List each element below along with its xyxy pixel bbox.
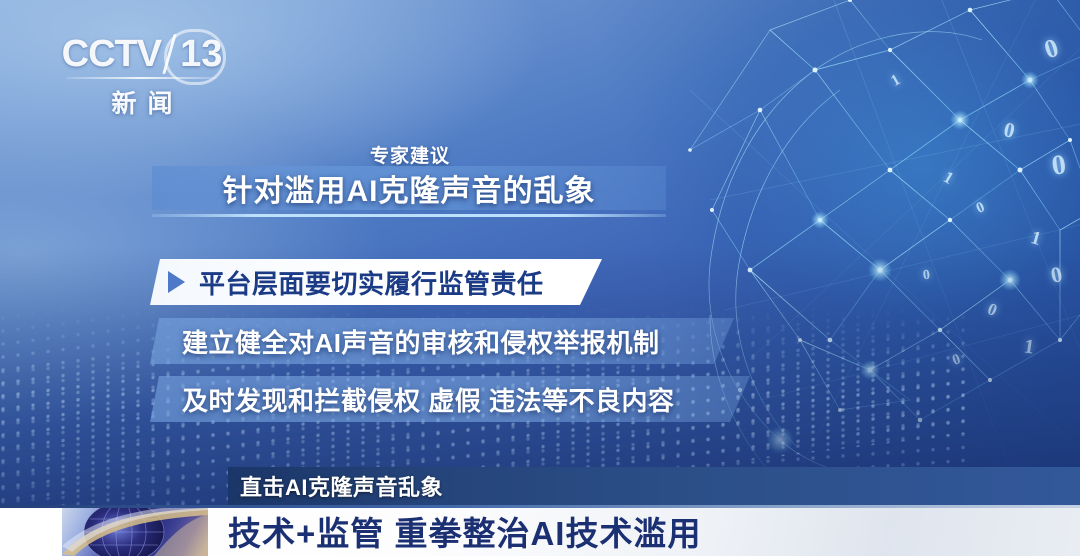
recommendation-text: 建立健全对AI声音的审核和侵权举报机制: [182, 323, 660, 360]
title-underline: [152, 214, 666, 217]
recommendation-item-2: 建立健全对AI声音的审核和侵权举报机制: [150, 318, 734, 364]
logo-ring-icon: [164, 29, 226, 85]
logo-chinese-label: 新闻: [56, 84, 228, 120]
logo-cctv-text: CCTV: [62, 35, 161, 73]
cctv13-logo: CCTV 13 新闻: [56, 34, 228, 120]
broadcast-frame: 0 0 0 1 0 1 1 0 0 0 1 0: [0, 0, 1080, 556]
topic-tag-bar: 直击AI克隆声音乱象: [228, 467, 1080, 505]
topic-tag-text: 直击AI克隆声音乱象: [240, 470, 443, 502]
kicker-label: 专家建议: [0, 141, 820, 168]
logo-row: CCTV 13: [56, 34, 228, 74]
news-globe-graphic: [62, 508, 208, 556]
page-title: 针对滥用AI克隆声音的乱象: [152, 166, 666, 210]
recommendation-item-3: 及时发现和拦截侵权 虚假 违法等不良内容: [150, 376, 750, 422]
recommendation-text: 及时发现和拦截侵权 虚假 违法等不良内容: [182, 381, 674, 418]
recommendation-text: 平台层面要切实履行监管责任: [199, 264, 544, 301]
triangle-marker-icon: [168, 271, 185, 293]
recommendation-item-1: 平台层面要切实履行监管责任: [150, 259, 602, 305]
headline-text: 技术+监管 重拳整治AI技术滥用: [228, 505, 701, 556]
